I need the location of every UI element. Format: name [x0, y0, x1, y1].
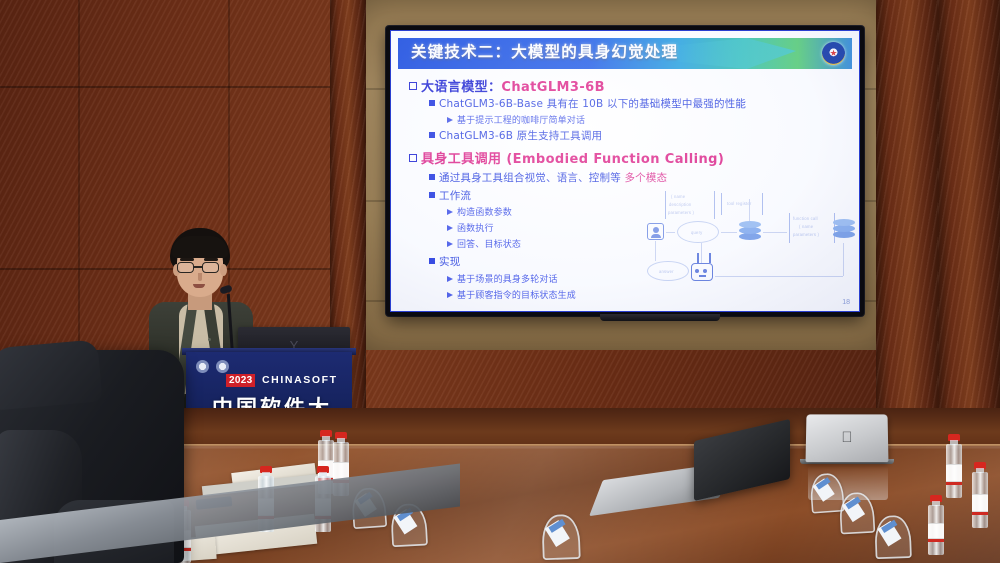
arrow-bullet-icon [447, 225, 453, 231]
university-emblem-icon [822, 42, 845, 65]
bottle-label [946, 464, 962, 482]
robot-antenna [697, 253, 699, 263]
hollow-square-bullet-icon [409, 82, 417, 90]
microphone-icon [219, 284, 233, 294]
presentation-room-scene: 关键技术二：大模型的具身幻觉处理 大语言模型：ChatGLM3-6B ChatG… [0, 0, 1000, 563]
slide-header-banner: 关键技术二：大模型的具身幻觉处理 [398, 38, 852, 69]
arrow-bullet-icon [447, 209, 453, 215]
robot-icon [691, 263, 713, 281]
database-icon [739, 221, 761, 243]
bullet-l3-goalstate: 基于顾客指令的目标状态生成 [447, 288, 576, 301]
podium-year-badge: 2023 [226, 374, 255, 387]
chair-headrest [0, 339, 102, 410]
bullet-l3-answer-goal: 回答、目标状态 [447, 237, 521, 250]
diagram-link [701, 243, 702, 263]
eyeglasses-bridge [194, 266, 202, 268]
bullet-l2-workflow: 工作流 [429, 188, 471, 203]
wall-pillar [938, 0, 1000, 430]
wall-pillar [876, 0, 940, 430]
solid-square-bullet-icon [429, 174, 435, 180]
bottle-label-band [972, 512, 988, 515]
robot-antenna [709, 253, 711, 263]
diagram-link [721, 232, 737, 233]
water-bottle[interactable] [928, 495, 944, 555]
macbook-laptop[interactable]:  [806, 414, 889, 462]
bottle-label [928, 523, 944, 539]
arrow-bullet-icon [447, 117, 453, 123]
bullet-l1-llm: 大语言模型：ChatGLM3-6B [409, 76, 605, 95]
bullet-l2-base-perf: ChatGLM3-6B-Base 具有在 10B 以下的基础模型中最强的性能 [429, 96, 746, 111]
arrow-bullet-icon [447, 241, 453, 247]
presenter-eyebrow [204, 258, 218, 261]
bullet-l2-implementation: 实现 [429, 254, 460, 269]
arrow-bullet-icon [447, 276, 453, 282]
user-icon [647, 223, 664, 240]
slide-page-number: 18 [842, 299, 850, 306]
arrow-bullet-icon [447, 292, 453, 298]
solid-square-bullet-icon [429, 100, 435, 106]
diagram-link [666, 232, 675, 233]
jacket-button [208, 338, 211, 341]
bottle-label [972, 494, 988, 512]
apple-logo-icon:  [840, 430, 854, 446]
hollow-square-bullet-icon [409, 154, 417, 162]
bullet-l2-multimodal: 通过具身工具组合视觉、语言、控制等 多个模态 [429, 170, 667, 185]
solid-square-bullet-icon [429, 258, 435, 264]
slide-title: 关键技术二：大模型的具身幻觉处理 [411, 40, 678, 62]
presentation-slide: 关键技术二：大模型的具身幻觉处理 大语言模型：ChatGLM3-6B ChatG… [391, 31, 859, 311]
bullet-l3-multiturn: 基于场景的具身多轮对话 [447, 272, 558, 285]
bullet-l1-embodied-fc: 具身工具调用 (Embodied Function Calling) [409, 148, 724, 167]
database-icon [833, 219, 855, 241]
presenter-eyebrow [180, 258, 194, 261]
presenter-ear [220, 264, 227, 276]
bullet-l3-build-args: 构造函数参数 [447, 205, 512, 218]
podium-brand-en: CHINASOFT [262, 374, 338, 387]
slide-screen: 关键技术二：大模型的具身幻觉处理 大语言模型：ChatGLM3-6B ChatG… [390, 30, 860, 312]
bottle-label-band [946, 482, 962, 485]
wall-display[interactable]: 关键技术二：大模型的具身幻觉处理 大语言模型：ChatGLM3-6B ChatG… [386, 26, 864, 316]
bottle-label-band [928, 539, 944, 542]
bullet-l3-func-exec: 函数执行 [447, 221, 494, 234]
diagram-link [655, 241, 656, 261]
solid-square-bullet-icon [429, 192, 435, 198]
presenter-nose [198, 273, 202, 281]
water-bottle[interactable] [972, 462, 988, 528]
diagram-link [763, 232, 787, 233]
eyeglasses-icon [202, 262, 219, 273]
eyeglasses-icon [177, 262, 194, 273]
diagram-link [715, 276, 843, 277]
presenter-hair [172, 236, 228, 258]
name-placard[interactable] [839, 492, 876, 535]
bullet-l2-native-tool: ChatGLM3-6B 原生支持工具调用 [429, 128, 602, 143]
org-seal-left-icon [196, 360, 209, 373]
slide-workflow-diagram: ( name description parameters ) tool reg… [641, 191, 856, 296]
display-stand [600, 314, 720, 321]
water-bottle[interactable] [946, 434, 962, 498]
solid-square-bullet-icon [429, 132, 435, 138]
name-placard[interactable] [541, 514, 580, 560]
diagram-link [749, 199, 750, 221]
org-seal-right-icon [216, 360, 229, 373]
bullet-l3-prompt-dialog: 基于提示工程的咖啡厅简单对话 [447, 113, 585, 126]
name-placard[interactable] [874, 515, 912, 559]
diagram-link [843, 243, 844, 276]
